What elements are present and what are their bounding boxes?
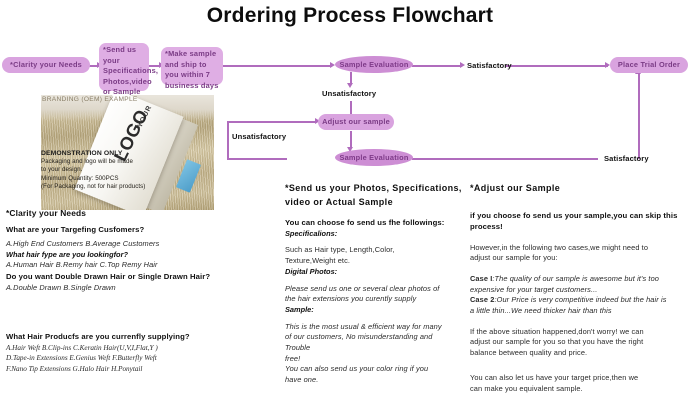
node-send-label: *Send us your Specifications, Photos,vid… [103,45,158,96]
right-skip-line-1: if you choose fo send us your sample,you… [470,210,696,222]
right-case-1-cont: expensive for your target customers... [470,285,696,296]
node-sample-evaluation-1[interactable]: Sample Evaluation [335,56,413,73]
left-question-4: What Hair Producfs are you currenfly sup… [6,331,278,343]
middle-spec-body-1: Such as Hair type, Length,Color, [285,245,463,256]
right-case-1: Case I:The quality of our sample is awes… [470,274,696,285]
arrowhead-to-satisfactory-top [460,62,465,68]
middle-sample-body-6: have one. [285,375,463,386]
demo-heading: DEMONSTRATION ONLY [41,150,193,157]
middle-digital-photos-label: Digital Photos: [285,267,463,278]
node-place-trial-order[interactable]: Place Trial Order [610,57,688,73]
middle-sample-label: Sample: [285,305,463,316]
left-question-2: What hair fype are you lookingfor? [6,250,278,261]
edge-label-satisfactory-top: Satisfactory [467,61,512,70]
middle-specifications-label: Specificalions: [285,229,463,240]
left-answer-3: A.Double Drawn B.Single Drawn [6,283,278,294]
middle-digital-body-1: Please send us one or several clear phot… [285,284,463,295]
middle-sample-body-3: Trouble [285,343,463,354]
right-case-2-label: Case 2 [470,295,494,304]
node-sample-evaluation-2[interactable]: Sample Evaluation [335,149,413,166]
right-closing-2: adjust our sample for you so that you ha… [470,337,696,348]
middle-sample-body-5: You can also send us your color ring if … [285,364,463,375]
left-question-3: Do you want Double Drawn Hair or Single … [6,271,278,283]
right-case-1-label: Case I [470,274,492,283]
node-clarify-your-needs[interactable]: *Clarity your Needs [2,57,90,73]
middle-sample-body-2: of our customers, No misunderstanding an… [285,332,463,343]
node-make-sample[interactable]: *Make sample and ship to you within 7 bu… [161,47,223,85]
middle-digital-body-2: the hair extensions you curently supply [285,294,463,305]
right-however-2: adjust our sample for you: [470,253,696,264]
middle-spec-body-2: Texture,Weight etc. [285,256,463,267]
connector-satisfactory-bottom-up [638,74,640,159]
right-however-1: However,in the following two cases,we mi… [470,243,696,254]
right-case-2-text: :Our Price is very competitive indeed bu… [494,295,666,304]
left-question-1: What are your Targefing Cusfomers? [6,224,278,236]
connector-eval2-to-satisfactory-bottom [412,158,598,160]
page-title: Ordering Process Flowchart [0,4,700,28]
node-eval2-label: Sample Evaluation [339,153,408,162]
node-make-label: *Make sample and ship to you within 7 bu… [165,49,219,90]
middle-intro: You can choose fo send us fhe followings… [285,217,463,229]
right-final-1: You can also let us have your target pri… [470,373,696,384]
left-answer-2: A.Human Hair B.Remy hair C.Top Remy Hair [6,260,278,271]
node-send-specifications[interactable]: *Send us your Specifications, Photos,vid… [99,43,149,91]
connector-make-to-eval1 [222,65,332,67]
column-send-us-your-photos: *Send us your Photos, Specifications, vi… [285,182,463,385]
right-case-1-text: :The quality of our sample is awesome bu… [492,274,659,283]
node-eval1-label: Sample Evaluation [339,60,408,69]
right-skip-line-2: process! [470,221,696,233]
left-heading: *Clarity your Needs [6,207,278,220]
flowchart-page: Ordering Process Flowchart * [0,0,700,417]
middle-heading: *Send us your Photos, Specifications, vi… [285,182,463,209]
left-answer-4-line-3: F.Nano Tip Extensions G.Halo Hair H.Pony… [6,364,278,374]
connector-loop-up [227,121,229,159]
right-closing-1: If the above situation happened,don't wo… [470,327,696,338]
node-clarify-label: *Clarity your Needs [10,60,82,69]
left-answer-1: A.High End Customers B.Average Customers [6,239,278,250]
demo-line-1: Packaging and logo will be made [41,158,193,166]
right-case-2-cont: a little thin...We need thicker hair tha… [470,306,696,317]
node-adjust-label: Adjust our sample [322,117,390,126]
connector-satisfactory-to-trial [505,65,608,67]
column-clarify-your-needs: *Clarity your Needs What are your Targef… [6,207,278,374]
left-answer-4-line-1: A.Hair Weft B.Clip-ins C.Keratin Hair(U,… [6,343,278,353]
node-trial-label: Place Trial Order [618,60,680,69]
edge-label-unsatisfactory-loop: Unsatisfactory [232,132,286,141]
connector-loop-right-to-adjust [227,121,317,123]
arrowhead-unsatisfactory-top [347,83,353,88]
demonstration-overlay: DEMONSTRATION ONLY Packaging and logo wi… [41,150,193,192]
demo-line-3: Minimum Quantity: 500PCS [41,175,193,183]
right-heading: *Adjust our Sample [470,182,696,196]
connector-eval1-to-satisfactory [412,65,462,67]
middle-sample-body-4: free! [285,354,463,365]
right-case-2: Case 2:Our Price is very competitive ind… [470,295,696,306]
edge-label-unsatisfactory-top: Unsatisfactory [322,89,376,98]
branding-example-photo: YOUR LOGO BRANDING (OEM) EXAMPLE DEMONST… [41,95,214,210]
left-answer-4-line-2: D.Tape-in Extensions E.Genius Weft F.But… [6,353,278,363]
node-adjust-our-sample[interactable]: Adjust our sample [318,114,394,130]
right-final-2: can make you equivalent sample. [470,384,696,395]
column-adjust-our-sample: *Adjust our Sample if you choose fo send… [470,182,696,395]
connector-eval2-loop-left [227,158,287,160]
demo-line-2: to your design. [41,166,193,174]
demo-line-4: (For Packaging, not for hair products) [41,183,193,191]
middle-sample-body-1: This is the most usual & efficient way f… [285,322,463,333]
photo-caption: BRANDING (OEM) EXAMPLE [42,96,138,103]
connector-adjust-to-eval2 [350,131,352,148]
edge-label-satisfactory-bottom: Satisfactory [604,154,649,163]
right-closing-3: balance between quality and price. [470,348,696,359]
